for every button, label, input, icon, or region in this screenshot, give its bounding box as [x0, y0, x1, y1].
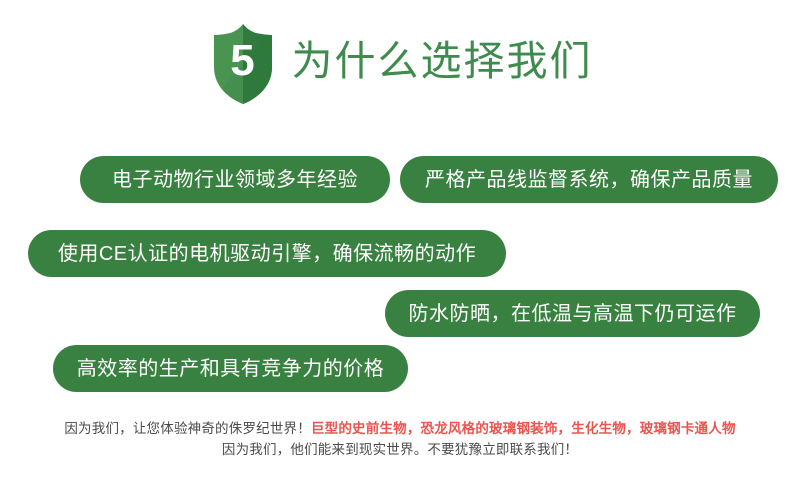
- feature-pill-1-label: 电子动物行业领域多年经验: [112, 170, 358, 190]
- shield-badge-number: 5: [208, 22, 278, 106]
- feature-pill-1: 电子动物行业领域多年经验: [80, 156, 390, 203]
- banner-header: 5 为什么选择我们: [0, 22, 800, 106]
- feature-pill-5-label: 高效率的生产和具有竞争力的价格: [77, 359, 385, 379]
- shield-badge: 5: [208, 22, 278, 106]
- footer-line-1: 因为我们，让您体验神奇的侏罗纪世界！巨型的史前生物，恐龙风格的玻璃钢装饰，生化生…: [0, 418, 800, 439]
- why-choose-us-banner: 5 为什么选择我们 电子动物行业领域多年经验 严格产品线监督系统，确保产品质量 …: [0, 0, 800, 485]
- page-title: 为什么选择我们: [292, 41, 593, 88]
- footer-line-2: 因为我们，他们能来到现实世界。不要犹豫立即联系我们！: [0, 439, 800, 460]
- feature-pill-4: 防水防晒，在低温与高温下仍可运作: [385, 290, 760, 337]
- feature-pill-3: 使用CE认证的电机驱动引擎，确保流畅的动作: [28, 230, 506, 277]
- feature-pill-2-label: 严格产品线监督系统，确保产品质量: [425, 170, 753, 190]
- footer-line-1-highlight: 巨型的史前生物，恐龙风格的玻璃钢装饰，生化生物，玻璃钢卡通人物: [311, 421, 736, 436]
- footer-text: 因为我们，让您体验神奇的侏罗纪世界！巨型的史前生物，恐龙风格的玻璃钢装饰，生化生…: [0, 418, 800, 460]
- feature-pill-5: 高效率的生产和具有竞争力的价格: [53, 345, 408, 392]
- feature-pill-4-label: 防水防晒，在低温与高温下仍可运作: [409, 304, 737, 324]
- feature-pill-3-label: 使用CE认证的电机驱动引擎，确保流畅的动作: [58, 244, 476, 264]
- footer-line-1-prefix: 因为我们，让您体验神奇的侏罗纪世界！: [64, 421, 311, 436]
- feature-pill-2: 严格产品线监督系统，确保产品质量: [400, 156, 778, 203]
